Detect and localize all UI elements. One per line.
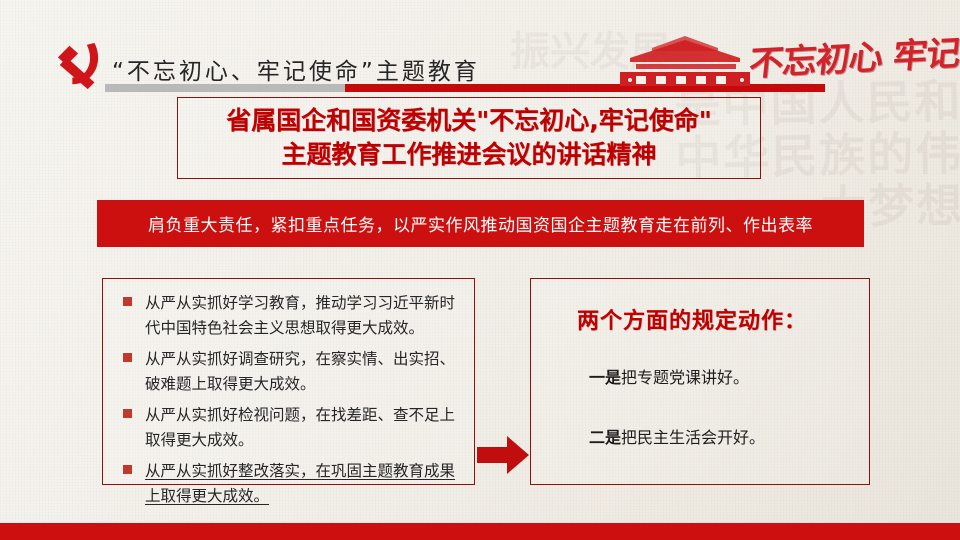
main-title-box: 省属国企和国资委机关"不忘初心,牢记使命" 主题教育工作推进会议的讲话精神 (177, 97, 761, 179)
red-banner-text: 肩负重大责任，紧扣重点任务，以严实作风推动国资国企主题教育走在前列、作出表率 (148, 211, 813, 236)
right-panel-item-1-text: 把专题党课讲好。 (621, 368, 749, 387)
list-item-label: 从严从实抓好调查研究，在察实情、出实招、破难题上取得更大成效。 (145, 347, 464, 397)
tiananmen-gate-icon (600, 28, 770, 90)
list-item: 从严从实抓好调查研究，在察实情、出实招、破难题上取得更大成效。 (113, 347, 464, 397)
right-arrow-icon (477, 434, 529, 476)
list-item-label: 从严从实抓好检视问题，在找差距、查不足上取得更大成效。 (145, 403, 464, 453)
left-bullet-panel: 从严从实抓好学习教育，推动学习习近平新时代中国特色社会主义思想取得更大成效。从严… (102, 278, 475, 485)
bullet-square-icon (123, 297, 132, 306)
header-rule-gray (105, 84, 345, 92)
main-title-line-2: 主题教育工作推进会议的讲话精神 (281, 138, 656, 172)
bullet-square-icon (123, 409, 132, 418)
list-item: 从严从实抓好检视问题，在找差距、查不足上取得更大成效。 (113, 403, 464, 453)
bullet-square-icon (123, 465, 132, 474)
brand-logo: 不忘初心 牢记使命 (600, 28, 952, 90)
main-title-line-1: 省属国企和国资委机关"不忘初心,牢记使命" (226, 104, 712, 138)
right-panel-item-2: 二是把民主生活会开好。 (589, 424, 765, 448)
list-item-label: 从严从实抓好学习教育，推动学习习近平新时代中国特色社会主义思想取得更大成效。 (145, 291, 464, 341)
red-banner: 肩负重大责任，紧扣重点任务，以严实作风推动国资国企主题教育走在前列、作出表率 (97, 200, 864, 247)
bullet-square-icon (123, 353, 132, 362)
slide-canvas: 是中国人民和中华民族的伟大梦想 振兴发展 “不忘初心、牢记使命”主题教育 (0, 0, 960, 540)
list-item: 从严从实抓好整改落实，在巩固主题教育成果上取得更大成效。 (113, 459, 464, 509)
footer-bar (0, 523, 960, 540)
right-info-panel: 两个方面的规定动作： 一是把专题党课讲好。 二是把民主生活会开好。 (530, 278, 870, 485)
right-panel-item-2-prefix: 二是 (589, 428, 621, 447)
right-panel-item-2-text: 把民主生活会开好。 (621, 428, 765, 447)
logo-calligraphy-text: 不忘初心 牢记使命 (746, 25, 959, 94)
page-title: “不忘初心、牢记使命”主题教育 (112, 52, 480, 86)
right-panel-item-1: 一是把专题党课讲好。 (589, 364, 749, 388)
list-item-label: 从严从实抓好整改落实，在巩固主题教育成果上取得更大成效。 (145, 459, 464, 509)
list-item: 从严从实抓好学习教育，推动学习习近平新时代中国特色社会主义思想取得更大成效。 (113, 291, 464, 341)
right-panel-item-1-prefix: 一是 (589, 368, 621, 387)
right-panel-heading: 两个方面的规定动作： (577, 303, 807, 335)
hammer-sickle-emblem-icon (52, 40, 110, 92)
